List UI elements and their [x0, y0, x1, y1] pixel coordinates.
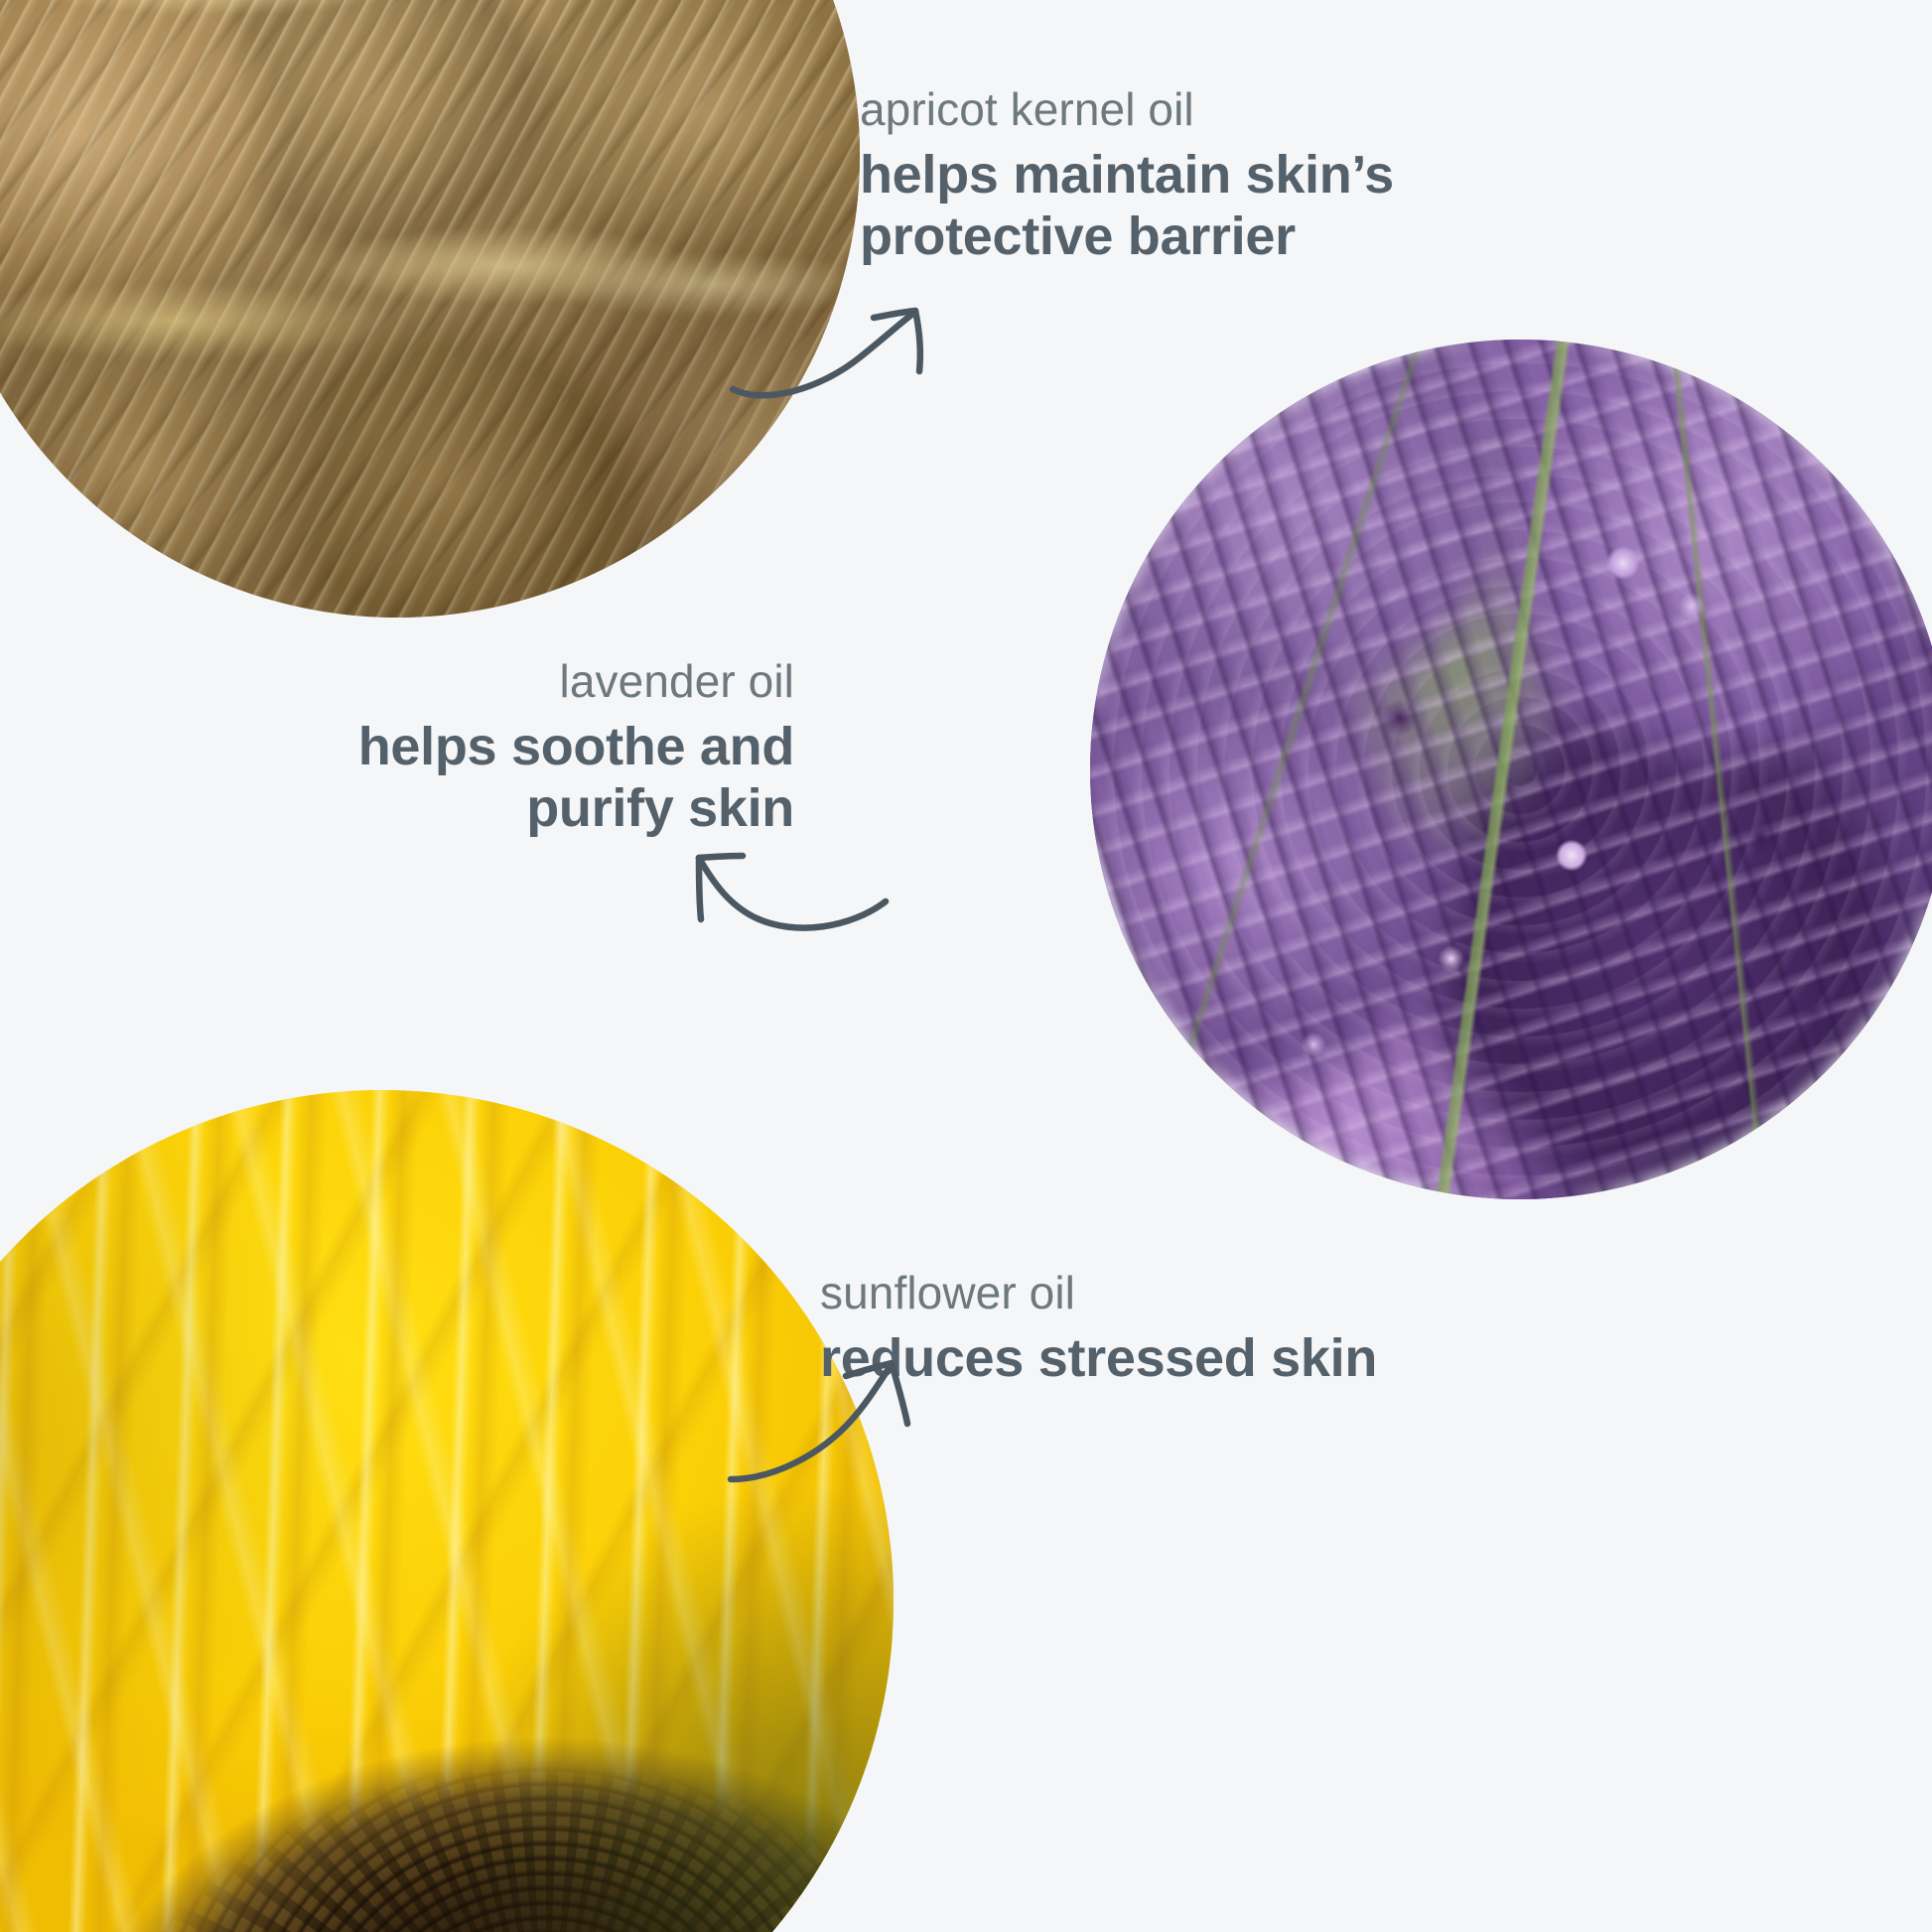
lavender-label-block: lavender oil helps soothe and purify ski…: [357, 655, 794, 840]
lavender-flowers-photo: [1090, 340, 1932, 1199]
lavender-benefit-claim: helps soothe and purify skin: [357, 717, 794, 839]
sunflower-benefit-claim: reduces stressed skin: [820, 1328, 1515, 1390]
apricot-ingredient-name: apricot kernel oil: [860, 83, 1475, 135]
lavender-claim-line-2: purify skin: [357, 778, 794, 840]
apricot-benefit-claim: helps maintain skin’s protective barrier: [860, 145, 1475, 267]
sunflower-shading: [0, 1090, 894, 1932]
apricot-shading: [0, 0, 860, 618]
apricot-kernels-photo: [0, 0, 860, 618]
lavender-claim-line-1: helps soothe and: [357, 717, 794, 778]
sunflower-photo: [0, 1090, 894, 1932]
sunflower-ingredient-name: sunflower oil: [820, 1267, 1515, 1318]
arrow-to-lavender-icon: [685, 834, 894, 953]
apricot-claim-line-1: helps maintain skin’s: [860, 145, 1475, 207]
sunflower-claim-line-1: reduces stressed skin: [820, 1328, 1515, 1390]
lavender-ingredient-name: lavender oil: [357, 655, 794, 707]
ingredient-infographic: apricot kernel oil helps maintain skin’s…: [0, 0, 1932, 1932]
sunflower-label-block: sunflower oil reduces stressed skin: [820, 1267, 1515, 1390]
apricot-label-block: apricot kernel oil helps maintain skin’s…: [860, 83, 1475, 268]
apricot-claim-line-2: protective barrier: [860, 207, 1475, 268]
lavender-buds: [1090, 340, 1932, 1199]
